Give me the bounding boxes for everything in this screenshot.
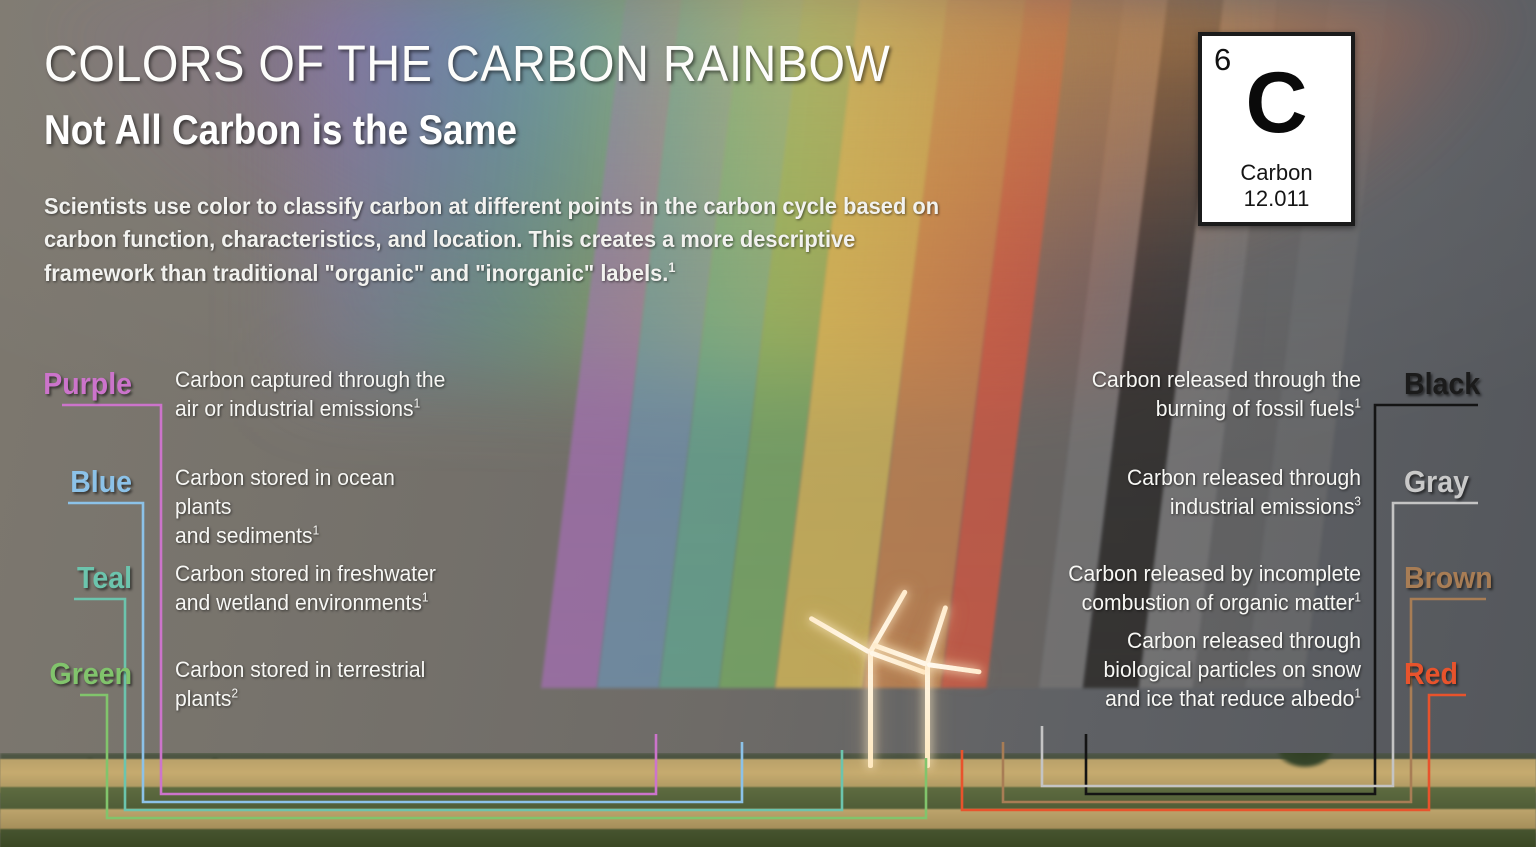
desc-line-1: Carbon stored in terrestrial (175, 657, 425, 682)
page-subtitle: Not All Carbon is the Same (44, 108, 517, 152)
desc-line-1: Carbon released by incomplete (1068, 561, 1361, 586)
desc-reference: 3 (1354, 495, 1361, 509)
color-description-blue: Carbon stored in ocean plantsand sedimen… (175, 463, 457, 550)
desc-line-1: Carbon stored in ocean plants (175, 465, 395, 519)
field-band-4 (0, 829, 1536, 847)
desc-reference: 1 (1354, 591, 1361, 605)
color-label-teal: Teal (11, 562, 132, 593)
carbon-element-box: 6 C Carbon 12.011 (1198, 32, 1355, 226)
color-label-black: Black (1404, 368, 1524, 399)
page-title: COLORS OF THE CARBON RAINBOW (44, 38, 890, 89)
desc-line-1: Carbon released through (1127, 628, 1361, 653)
desc-line-2: burning of fossil fuels (1156, 396, 1355, 421)
desc-line-2: plants (175, 686, 231, 711)
intro-line-3: framework than traditional "organic" and… (44, 260, 668, 286)
intro-reference: 1 (668, 260, 675, 275)
infographic-canvas: COLORS OF THE CARBON RAINBOW Not All Car… (0, 0, 1536, 847)
desc-reference: 1 (313, 524, 320, 538)
desc-line-3: and ice that reduce albedo (1105, 686, 1354, 711)
color-description-purple: Carbon captured through theair or indust… (175, 365, 457, 423)
desc-reference: 1 (414, 397, 421, 411)
turbine-mast (925, 662, 930, 768)
turbine-mast (868, 650, 873, 768)
color-description-teal: Carbon stored in freshwaterand wetland e… (175, 559, 457, 617)
color-label-brown: Brown (1404, 562, 1524, 593)
color-description-gray: Carbon released throughindustrial emissi… (1051, 463, 1361, 521)
desc-line-1: Carbon stored in freshwater (175, 561, 436, 586)
color-label-red: Red (1404, 658, 1524, 689)
color-description-black: Carbon released through theburning of fo… (1051, 365, 1361, 423)
desc-reference: 1 (1354, 397, 1361, 411)
color-description-green: Carbon stored in terrestrialplants2 (175, 655, 457, 713)
desc-reference: 2 (231, 687, 238, 701)
tree-right (1262, 753, 1348, 775)
desc-line-1: Carbon released through (1127, 465, 1361, 490)
intro-paragraph: Scientists use color to classify carbon … (44, 190, 965, 290)
color-label-purple: Purple (11, 368, 132, 399)
intro-line-1: Scientists use color to classify carbon … (44, 193, 906, 219)
element-atomic-mass: 12.011 (1202, 186, 1351, 212)
desc-line-2: industrial emissions (1170, 494, 1355, 519)
desc-line-1: Carbon captured through the (175, 367, 445, 392)
color-description-brown: Carbon released by incompletecombustion … (1051, 559, 1361, 617)
desc-line-2: air or industrial emissions (175, 396, 414, 421)
desc-line-2: and wetland environments (175, 590, 422, 615)
desc-reference: 1 (422, 591, 429, 605)
desc-line-2: biological particles on snow (1104, 657, 1361, 682)
desc-line-2: and sediments (175, 523, 313, 548)
color-label-blue: Blue (11, 466, 132, 497)
color-description-red: Carbon released throughbiological partic… (1051, 626, 1361, 713)
color-label-green: Green (11, 658, 132, 689)
element-name: Carbon (1202, 160, 1351, 186)
color-label-gray: Gray (1404, 466, 1524, 497)
desc-reference: 1 (1354, 687, 1361, 701)
element-symbol: C (1202, 60, 1351, 146)
landscape-ground (0, 753, 1536, 847)
desc-line-1: Carbon released through the (1092, 367, 1361, 392)
desc-line-2: combustion of organic matter (1082, 590, 1355, 615)
